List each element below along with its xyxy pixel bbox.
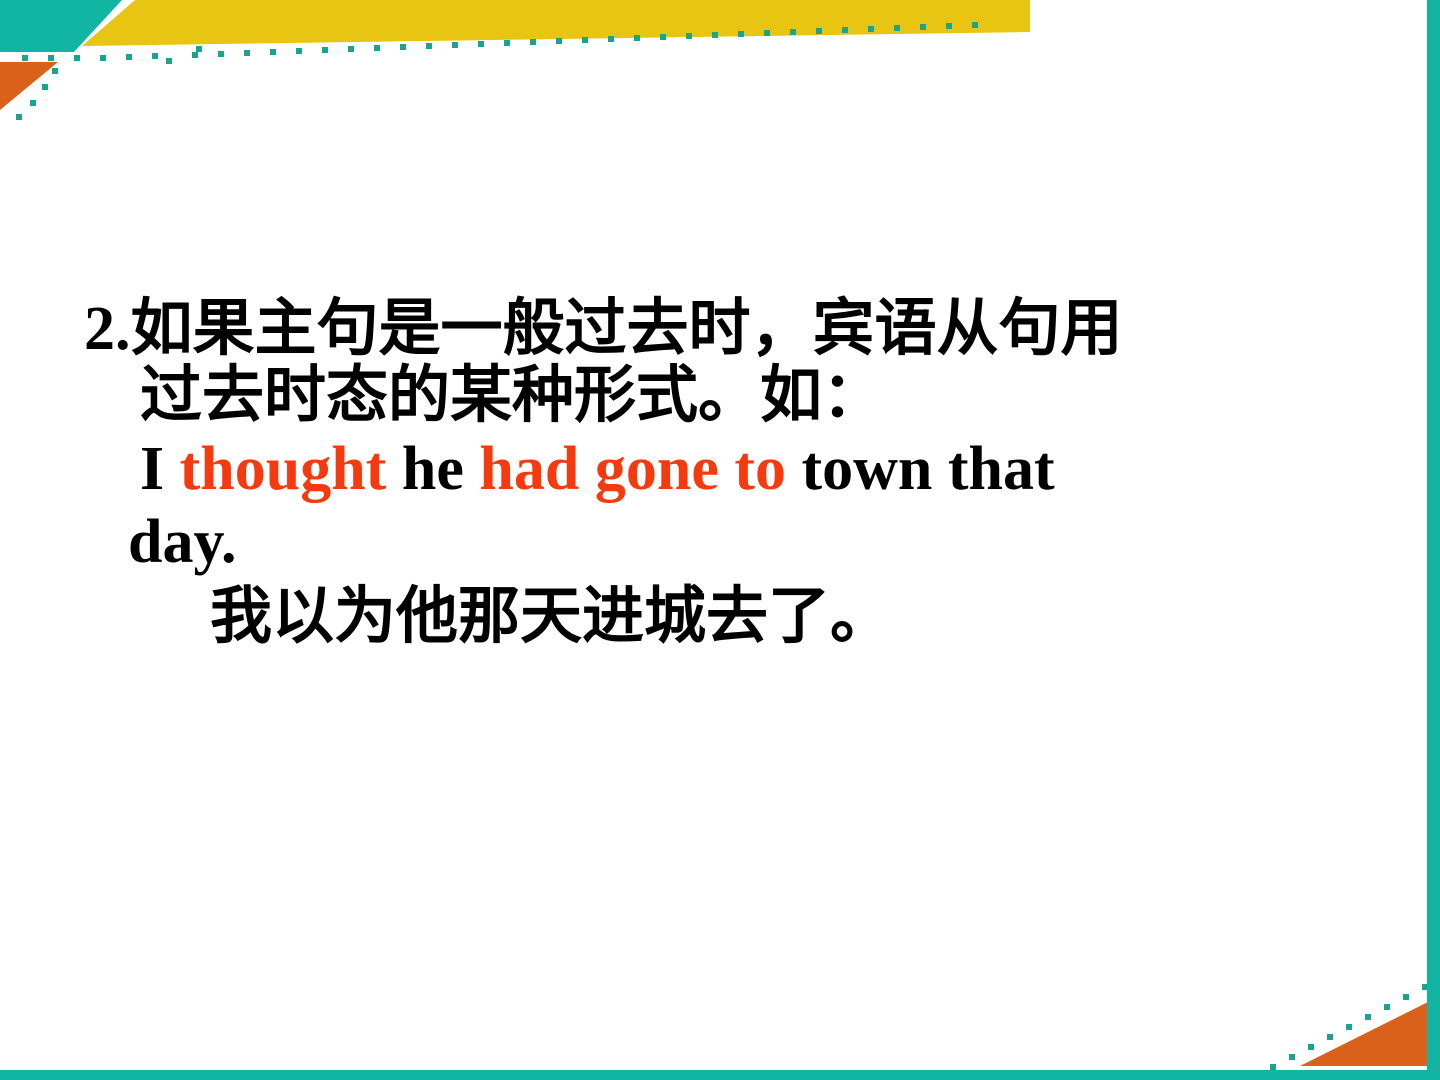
example-word-day: day. — [128, 508, 237, 576]
example-object-town-that: town that — [786, 435, 1055, 503]
list-number: 2. — [84, 295, 131, 363]
rule-line-1-text: 如果主句是一般过去时，宾语从句用 — [131, 295, 1123, 363]
example-line-1: I thought he had gone to town that — [84, 436, 1374, 503]
translation-line: 我以为他那天进城去了。 — [84, 584, 1374, 651]
rule-line-2-text: 过去时态的某种形式。如： — [140, 362, 884, 430]
example-verb-thought: thought — [180, 435, 387, 503]
slide-canvas: 2.如果主句是一般过去时，宾语从句用 过去时态的某种形式。如： I though… — [0, 0, 1440, 1080]
rule-line-2: 过去时态的某种形式。如： — [84, 363, 1374, 430]
example-subject: I — [140, 435, 180, 503]
slide-content: 2.如果主句是一般过去时，宾语从句用 过去时态的某种形式。如： I though… — [0, 0, 1440, 1080]
example-pronoun-he: he — [386, 435, 479, 503]
rule-line-1: 2.如果主句是一般过去时，宾语从句用 — [84, 296, 1374, 363]
example-line-2: day. — [84, 509, 1374, 576]
example-verb-had-gone-to: had gone to — [479, 435, 786, 503]
translation-text: 我以为他那天进城去了。 — [210, 583, 892, 651]
lesson-text-block: 2.如果主句是一般过去时，宾语从句用 过去时态的某种形式。如： I though… — [84, 296, 1374, 651]
